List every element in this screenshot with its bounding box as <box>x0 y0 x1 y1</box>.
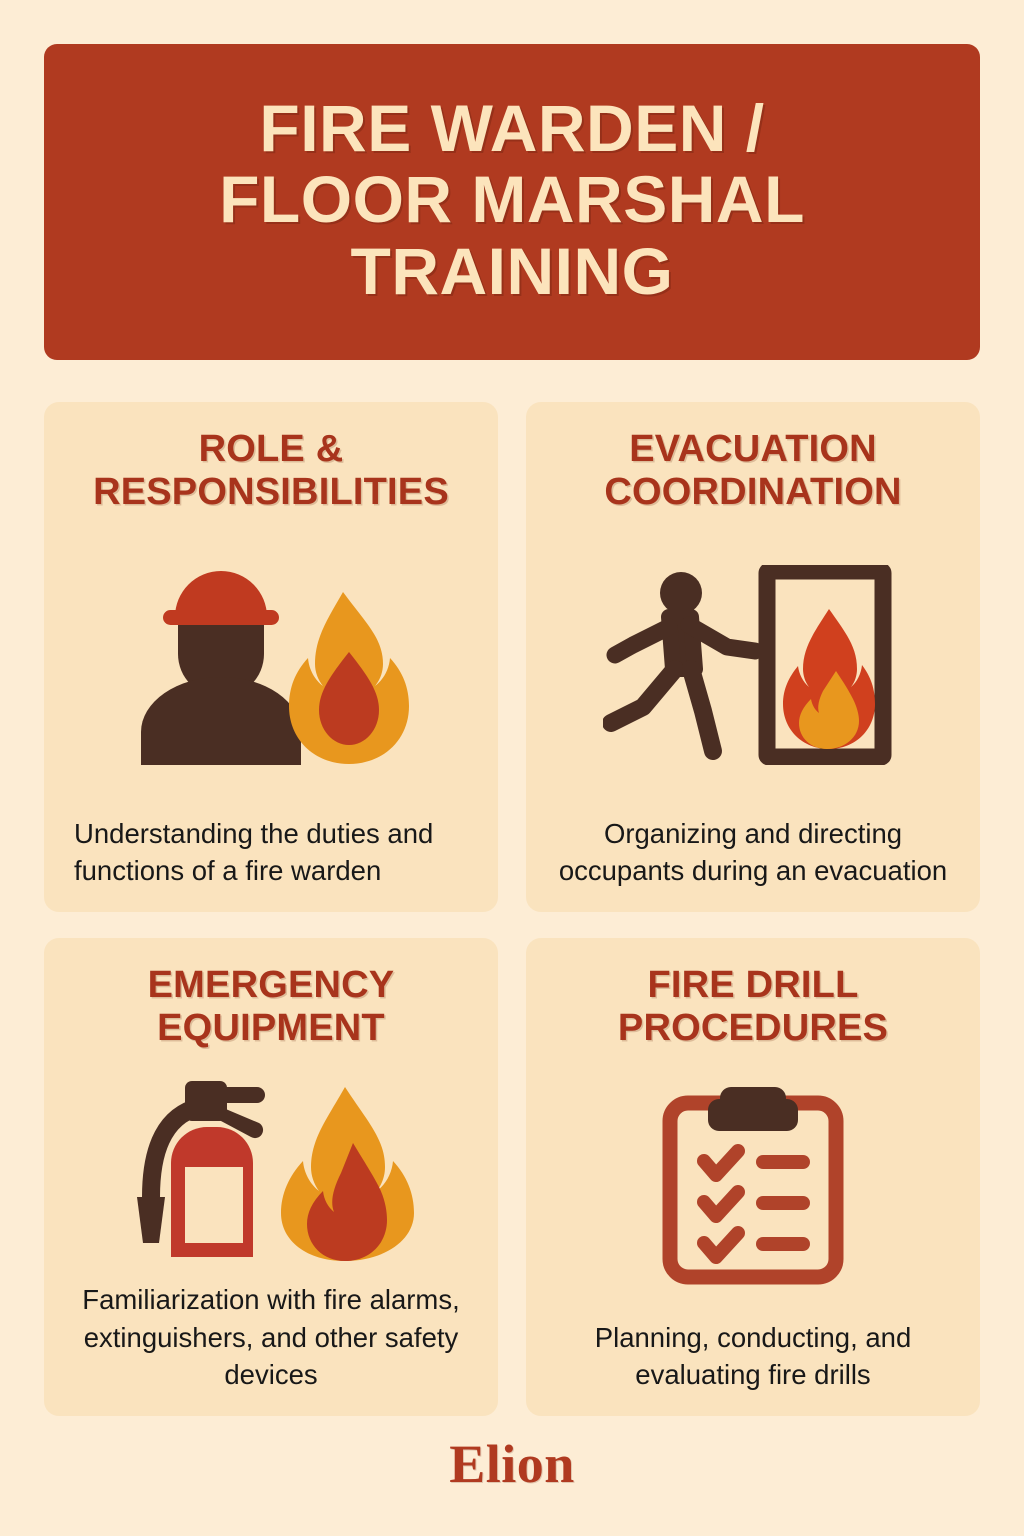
card-evacuation-coordination: EVACUATION COORDINATION <box>526 402 980 912</box>
card-description: Understanding the duties and functions o… <box>68 815 474 890</box>
fire-extinguisher-with-flame-icon <box>68 1050 474 1281</box>
card-description: Familiarization with fire alarms, exting… <box>68 1281 474 1394</box>
title-banner: FIRE WARDEN / FLOOR MARSHAL TRAINING <box>44 44 980 360</box>
clipboard-checklist-icon <box>550 1050 956 1319</box>
card-title: ROLE & RESPONSIBILITIES <box>68 428 474 514</box>
topic-card-grid: ROLE & RESPONSIBILITIES Understanding th… <box>44 402 980 1416</box>
card-title: FIRE DRILL PROCEDURES <box>550 964 956 1050</box>
firefighter-with-flame-icon <box>68 514 474 815</box>
running-person-exit-door-fire-icon <box>550 514 956 815</box>
title-line-2: FLOOR MARSHAL <box>219 164 805 235</box>
card-role-responsibilities: ROLE & RESPONSIBILITIES Understanding th… <box>44 402 498 912</box>
card-title: EMERGENCY EQUIPMENT <box>68 964 474 1050</box>
footer: Elion <box>44 1416 980 1536</box>
card-description: Planning, conducting, and evaluating fir… <box>550 1319 956 1394</box>
page-title: FIRE WARDEN / FLOOR MARSHAL TRAINING <box>219 93 805 307</box>
brand-logo: Elion <box>449 1437 575 1491</box>
infographic-poster: FIRE WARDEN / FLOOR MARSHAL TRAINING ROL… <box>0 0 1024 1536</box>
card-title: EVACUATION COORDINATION <box>550 428 956 514</box>
card-fire-drill-procedures: FIRE DRILL PROCEDURES <box>526 938 980 1416</box>
title-line-3: TRAINING <box>219 236 805 307</box>
card-description: Organizing and directing occupants durin… <box>550 815 956 890</box>
title-line-1: FIRE WARDEN / <box>219 93 805 164</box>
card-emergency-equipment: EMERGENCY EQUIPMENT <box>44 938 498 1416</box>
